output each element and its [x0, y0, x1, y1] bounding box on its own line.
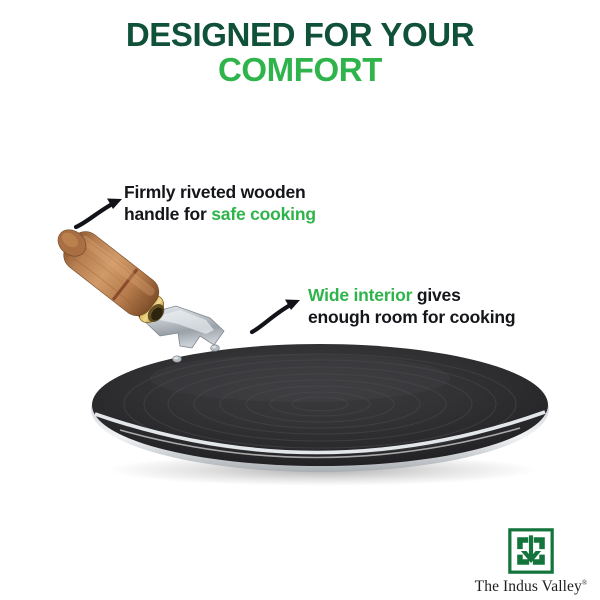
callout-handle-highlight: safe cooking: [211, 204, 316, 224]
callout-handle-line-1: Firmly riveted wooden: [124, 182, 306, 202]
pan-body-group: [91, 344, 549, 472]
callout-interior-line-1-suffix: gives: [412, 285, 460, 305]
page-title-line-2: COMFORT: [0, 53, 600, 87]
callout-handle-line-2-prefix: handle for: [124, 204, 211, 224]
product-shadow: [107, 454, 537, 486]
pan-rivet: [173, 356, 182, 362]
callout-interior-highlight: Wide interior: [308, 285, 412, 305]
curved-arrow-icon: [250, 286, 316, 336]
brand-logo: The Indus Valley®: [470, 528, 592, 596]
brand-wordmark: The Indus Valley®: [470, 578, 592, 596]
infographic-canvas: DESIGNED FOR YOUR COMFORT: [0, 0, 600, 600]
pan-rim-highlight: [95, 412, 545, 453]
page-title-line-1: DESIGNED FOR YOUR: [0, 18, 600, 52]
indus-valley-emblem-icon: [508, 528, 554, 574]
pan-face: [92, 344, 548, 466]
callout-interior-line-2: enough room for cooking: [308, 307, 515, 327]
callout-handle-text: Firmly riveted wooden handle for safe co…: [124, 182, 384, 226]
brand-name-text: The Indus Valley: [475, 578, 582, 595]
handle-ferrule: [133, 290, 169, 327]
pan-handle-group: [53, 224, 224, 348]
handle-bracket: [139, 306, 224, 348]
wooden-handle: [58, 225, 165, 321]
pan-rivet: [211, 345, 220, 351]
pan-rim: [91, 346, 549, 472]
callout-interior-text: Wide interior gives enough room for cook…: [308, 285, 586, 329]
page-title: DESIGNED FOR YOUR COMFORT: [0, 18, 600, 86]
pan-ring-texture: [124, 354, 516, 454]
handle-bracket-highlight: [150, 310, 214, 334]
pan-sheen: [150, 354, 450, 402]
registered-trademark-symbol: ®: [582, 579, 587, 587]
